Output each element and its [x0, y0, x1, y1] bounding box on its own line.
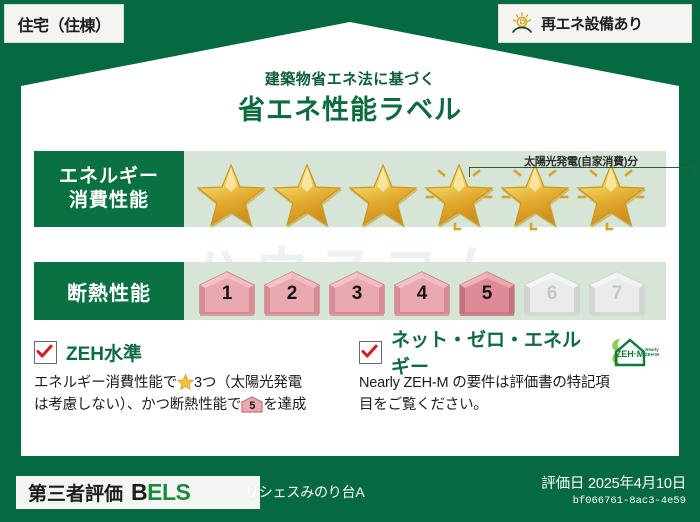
bels-certification: 第三者評価 BELS — [16, 476, 260, 509]
zeh-standard-column: ZEH水準 エネルギー消費性能で3つ（太陽光発電は考慮しない）、かつ断熱性能で5… — [34, 338, 345, 438]
grade-number-2: 2 — [261, 283, 323, 305]
grade-badges: 1 2 3 4 — [184, 269, 648, 313]
net-zero-energy-column: ネット・ゼロ・エネルギー ZEH·M Nearly ZEH-M Nearl — [345, 338, 670, 438]
grade-badge-2: 2 — [261, 269, 323, 313]
zeh-desc-part2: 3つ（太陽光発電 — [194, 375, 302, 391]
insulation-performance-label: 断熱性能 — [34, 262, 184, 320]
evaluation-info: 評価日 2025年4月10日 bf066761-8ac3-4e59 — [541, 472, 686, 507]
netzero-desc-line1: Nearly ZEH-M の要件は評価書の特記項 — [359, 375, 610, 391]
evaluation-date: 評価日 2025年4月10日 — [541, 472, 686, 493]
page-title: 省エネ性能ラベル — [21, 88, 679, 127]
grade-badge-6: 6 — [521, 269, 583, 313]
property-name: リシェスみのり台A — [245, 482, 365, 502]
eval-date-label: 評価日 — [541, 476, 584, 492]
category-tag: 住宅（住棟） — [4, 4, 124, 43]
energy-label-line2: 消費性能 — [69, 189, 149, 213]
star-3 — [346, 161, 420, 223]
grade-number-5: 5 — [456, 283, 518, 305]
net-zero-description: Nearly ZEH-M の要件は評価書の特記項目をご覧ください。 — [359, 372, 660, 416]
grade-badge-5: 5 — [456, 269, 518, 313]
grade-number-6: 6 — [521, 283, 583, 305]
grade-badge-3: 3 — [326, 269, 388, 313]
renewable-energy-badge: 再エネ設備あり — [498, 4, 692, 43]
solar-bracket — [469, 167, 695, 177]
star-icon-3 — [346, 161, 420, 233]
energy-rating-body: 太陽光発電(自家消費)分 — [184, 151, 666, 227]
grade-badge-1: 1 — [196, 269, 258, 313]
grade-badge-4: 4 — [391, 269, 453, 313]
bels-energy-label: 建築物省エネ法に基づく 省エネ性能ラベル ハウスコム エネルギー 消費性能 太陽… — [0, 0, 700, 522]
zeh-standard-title: ZEH水準 — [66, 339, 142, 366]
inline-grade-number: 5 — [241, 398, 263, 415]
netzero-desc-line2: 目をご覧ください。 — [359, 397, 488, 413]
star-icon-2 — [270, 161, 344, 233]
star-2 — [270, 161, 344, 223]
insulation-performance-row: 断熱性能 1 2 3 — [34, 262, 666, 320]
star-1 — [194, 161, 268, 223]
zeh-desc-part4: を達成 — [263, 397, 306, 413]
grade-number-3: 3 — [326, 283, 388, 305]
grade-number-4: 4 — [391, 283, 453, 305]
energy-performance-label: エネルギー 消費性能 — [34, 151, 184, 227]
footer: 第三者評価 BELS リシェスみのり台A 評価日 2025年4月10日 bf06… — [0, 466, 700, 522]
grade-number-1: 1 — [196, 283, 258, 305]
bels-letter-b: B — [131, 479, 147, 505]
subtitle: 建築物省エネ法に基づく — [21, 68, 679, 89]
check-icon — [36, 343, 53, 360]
insulation-rating-body: 1 2 3 4 — [184, 262, 666, 320]
grade-badge-7: 7 — [586, 269, 648, 313]
bels-wordmark: BELS — [131, 479, 190, 506]
svg-text:ZEH·M: ZEH·M — [616, 349, 645, 359]
zeh-desc-part1: エネルギー消費性能で — [34, 375, 177, 391]
bels-letters-els: ELS — [147, 479, 190, 505]
zeh-standard-header: ZEH水準 — [34, 338, 335, 366]
evaluation-id: bf066761-8ac3-4e59 — [541, 495, 686, 507]
criteria-columns: ZEH水準 エネルギー消費性能で3つ（太陽光発電は考慮しない）、かつ断熱性能で5… — [34, 338, 670, 438]
zeh-m-logo-icon: ZEH·M Nearly ZEH-M — [608, 335, 660, 369]
energy-label-line1: エネルギー — [59, 165, 159, 189]
zeh-desc-part3: は考慮しない）、かつ断熱性能で — [34, 397, 241, 413]
renewable-badge-label: 再エネ設備あり — [541, 13, 643, 34]
zeh-checkbox[interactable] — [34, 341, 57, 364]
svg-text:ZEH-M: ZEH-M — [645, 352, 659, 357]
sun-icon — [509, 12, 535, 36]
netzero-checkbox[interactable] — [359, 341, 382, 364]
energy-performance-row: エネルギー 消費性能 太陽光発電(自家消費)分 — [34, 151, 666, 227]
bels-jp-label: 第三者評価 — [28, 479, 123, 506]
grade-number-7: 7 — [586, 283, 648, 305]
eval-date-value: 2025年4月10日 — [588, 476, 686, 492]
inline-grade-badge: 5 — [241, 396, 263, 413]
net-zero-header: ネット・ゼロ・エネルギー ZEH·M Nearly ZEH-M — [359, 338, 660, 366]
net-zero-title: ネット・ゼロ・エネルギー — [391, 325, 595, 379]
check-icon — [361, 343, 378, 360]
inline-star-icon — [177, 374, 194, 390]
label-content: 建築物省エネ法に基づく 省エネ性能ラベル ハウスコム エネルギー 消費性能 太陽… — [21, 22, 679, 456]
star-icon-1 — [194, 161, 268, 233]
zeh-standard-description: エネルギー消費性能で3つ（太陽光発電は考慮しない）、かつ断熱性能で5を達成 — [34, 372, 335, 416]
